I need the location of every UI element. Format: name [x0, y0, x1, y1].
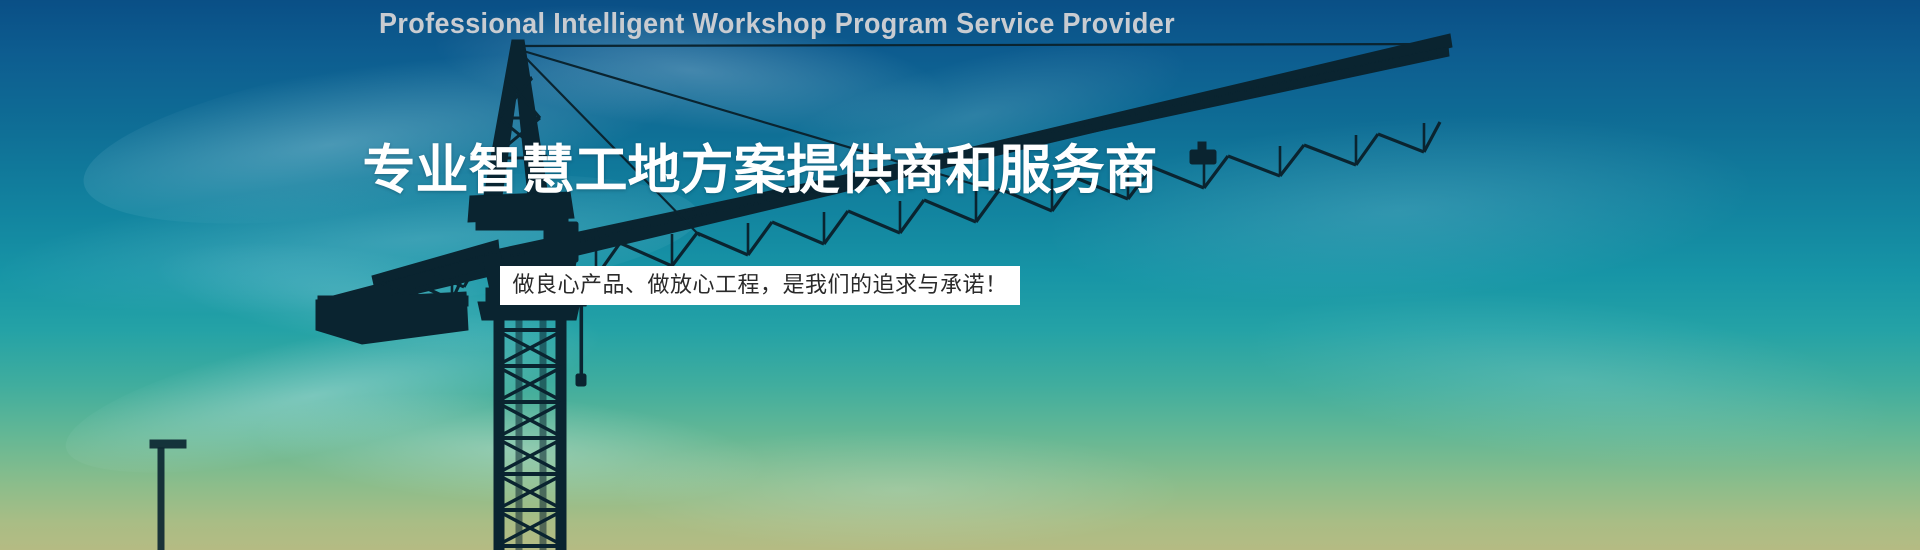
banner-subtitle: 做良心产品、做放心工程，是我们的追求与承诺！	[500, 266, 1019, 305]
hero-banner: Professional Intelligent Workshop Progra…	[0, 0, 1920, 550]
banner-tagline: Professional Intelligent Workshop Progra…	[54, 8, 1499, 41]
banner-subtitle-container: 做良心产品、做放心工程，是我们的追求与承诺！	[0, 266, 1520, 305]
banner-headline: 专业智慧工地方案提供商和服务商	[0, 128, 1520, 204]
